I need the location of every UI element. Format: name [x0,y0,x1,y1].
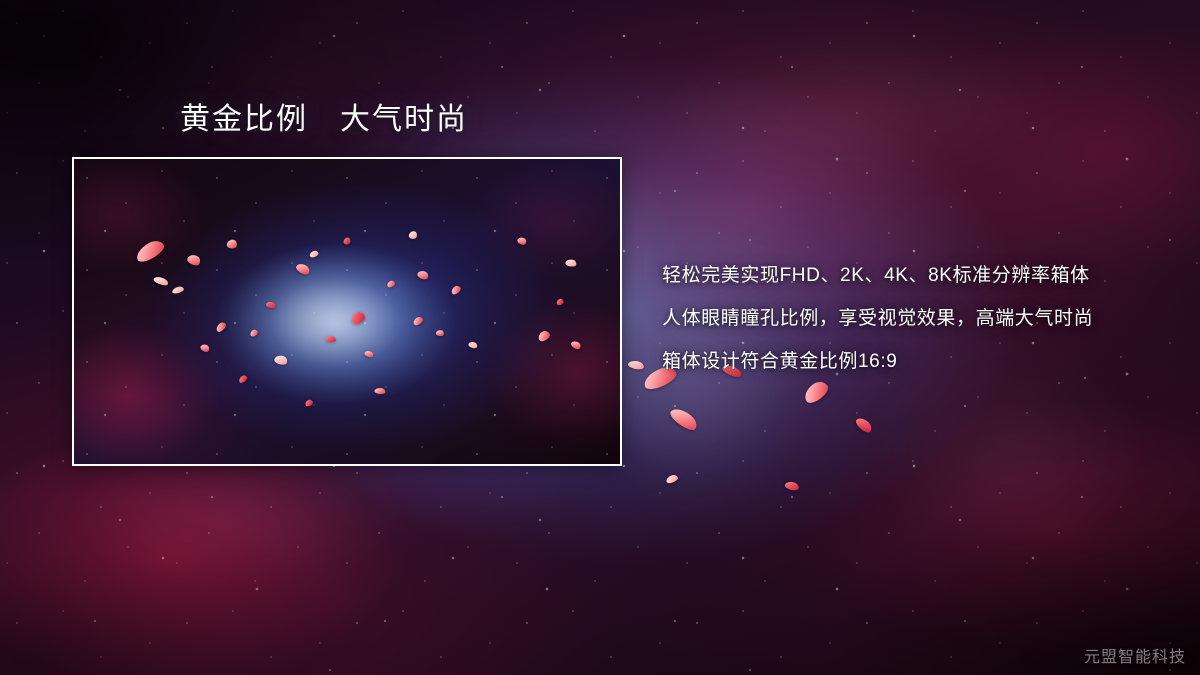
body-text-block: 轻松完美实现FHD、2K、4K、8K标准分辨率箱体 人体眼睛瞳孔比例，享受视觉效… [662,254,1162,383]
flower-petal [668,404,700,434]
body-line-3: 箱体设计符合黄金比例16:9 [662,340,1162,383]
presentation-slide: 黄金比例 大气时尚 轻松完美实现FHD、2K、4K、8K标准分辨率箱体 人体眼睛… [0,0,1200,675]
flower-petal [665,474,679,484]
flower-petal [854,415,874,435]
framed-image [72,157,622,466]
body-line-1: 轻松完美实现FHD、2K、4K、8K标准分辨率箱体 [662,254,1162,297]
framed-image-core-glow [74,159,620,464]
flower-petal [627,359,644,371]
body-line-2: 人体眼睛瞳孔比例，享受视觉效果，高端大气时尚 [662,297,1162,340]
flower-petal [784,480,800,492]
slide-title: 黄金比例 大气时尚 [180,102,468,138]
framed-image-photo [74,159,620,464]
watermark-logo-text: 元盟智能科技 [1084,643,1186,667]
